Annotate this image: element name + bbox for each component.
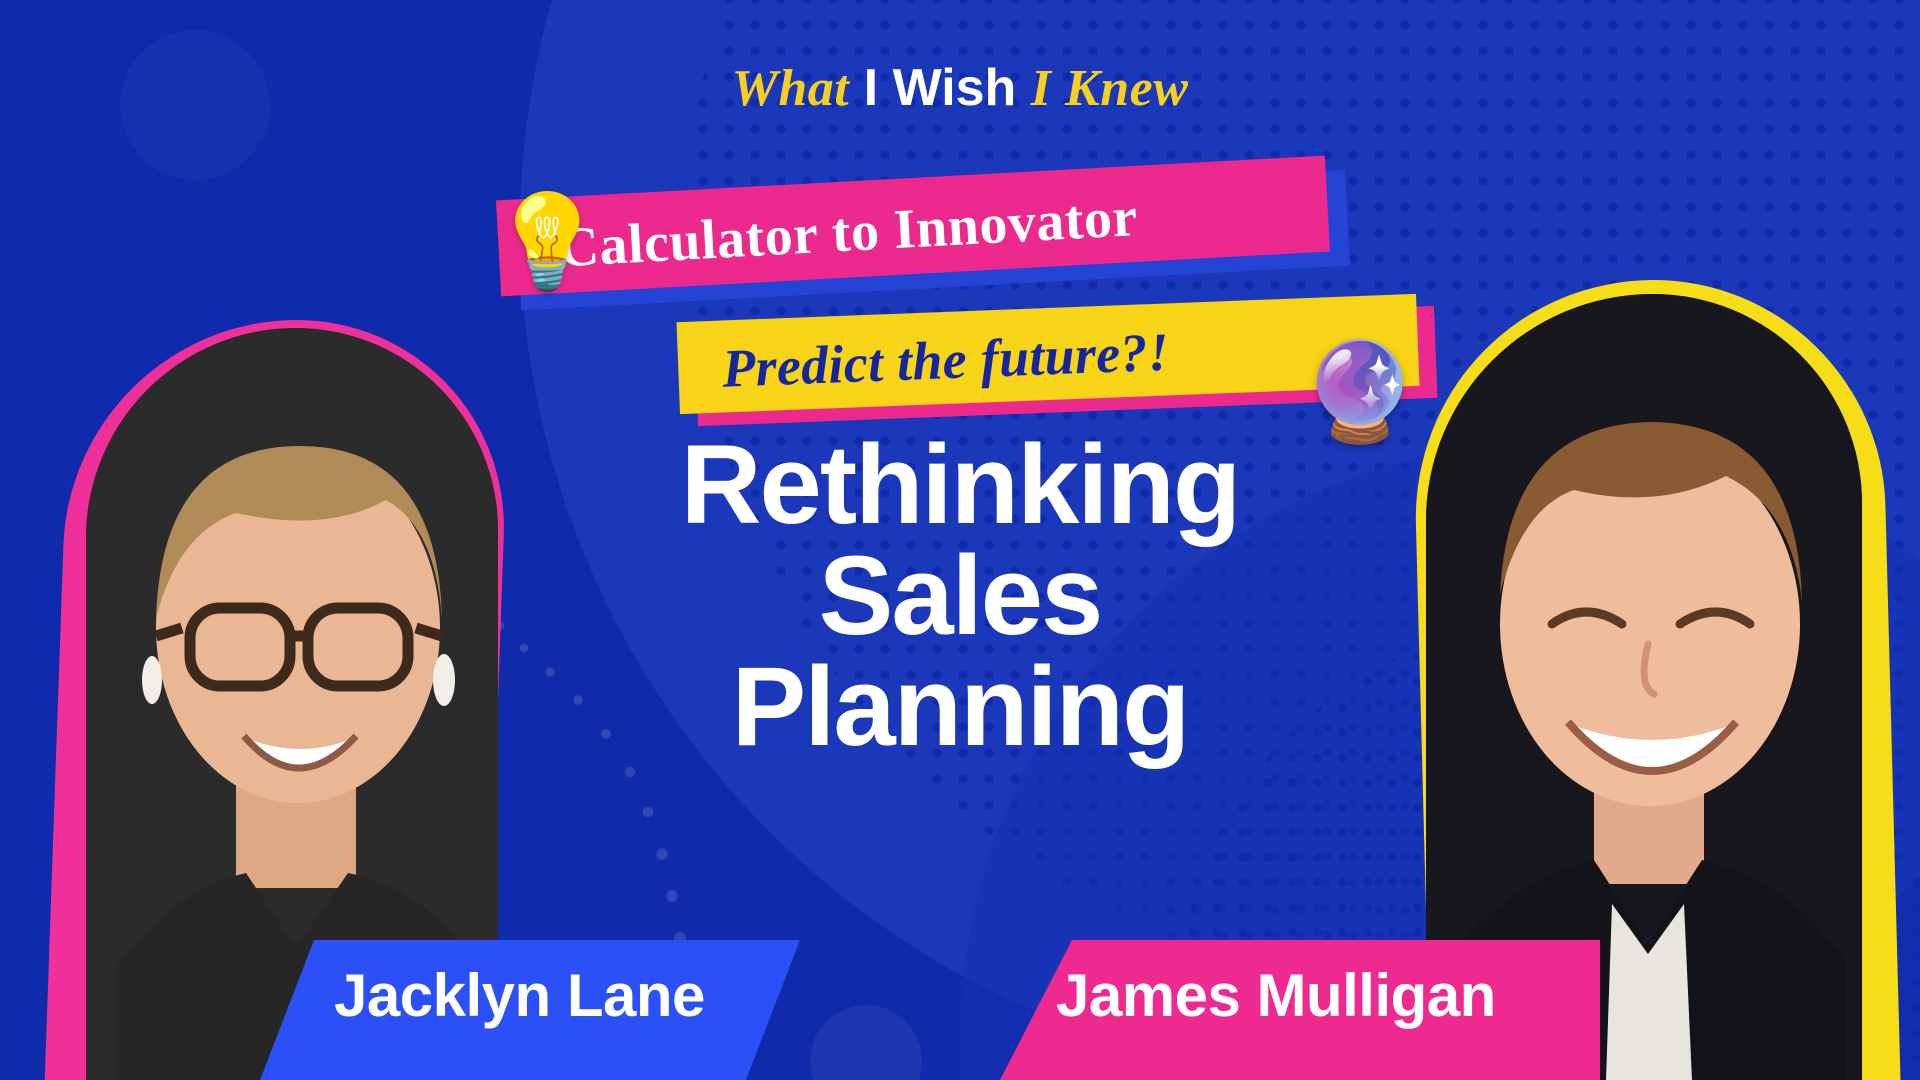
eyebrow-series-title: What I Wish I Knew bbox=[0, 62, 1920, 115]
speaker-right-name: James Mulligan bbox=[1056, 961, 1496, 1030]
ribbon-2-label: Predict the future?! bbox=[721, 321, 1170, 400]
title-card: What I Wish I Knew Calculator to Innovat… bbox=[0, 0, 1920, 1080]
eyebrow-part-3: I Knew bbox=[1031, 60, 1189, 117]
eyebrow-part-2: I Wish bbox=[864, 59, 1017, 117]
ribbon-calculator-to-innovator: Calculator to Innovator bbox=[480, 168, 1360, 308]
eyebrow-part-1: What bbox=[732, 60, 850, 117]
main-title-line-2: Sales bbox=[560, 541, 1360, 652]
lightbulb-icon: 💡 bbox=[490, 196, 605, 288]
speaker-left-nameplate: Jacklyn Lane bbox=[260, 940, 800, 1080]
crystal-ball-icon: 🔮 bbox=[1300, 345, 1420, 441]
main-title: Rethinking Sales Planning bbox=[560, 430, 1360, 763]
speaker-left-name: Jacklyn Lane bbox=[334, 961, 705, 1030]
main-title-line-3: Planning bbox=[560, 652, 1360, 763]
speaker-right-nameplate: James Mulligan bbox=[1000, 940, 1600, 1080]
main-title-line-1: Rethinking bbox=[560, 430, 1360, 541]
